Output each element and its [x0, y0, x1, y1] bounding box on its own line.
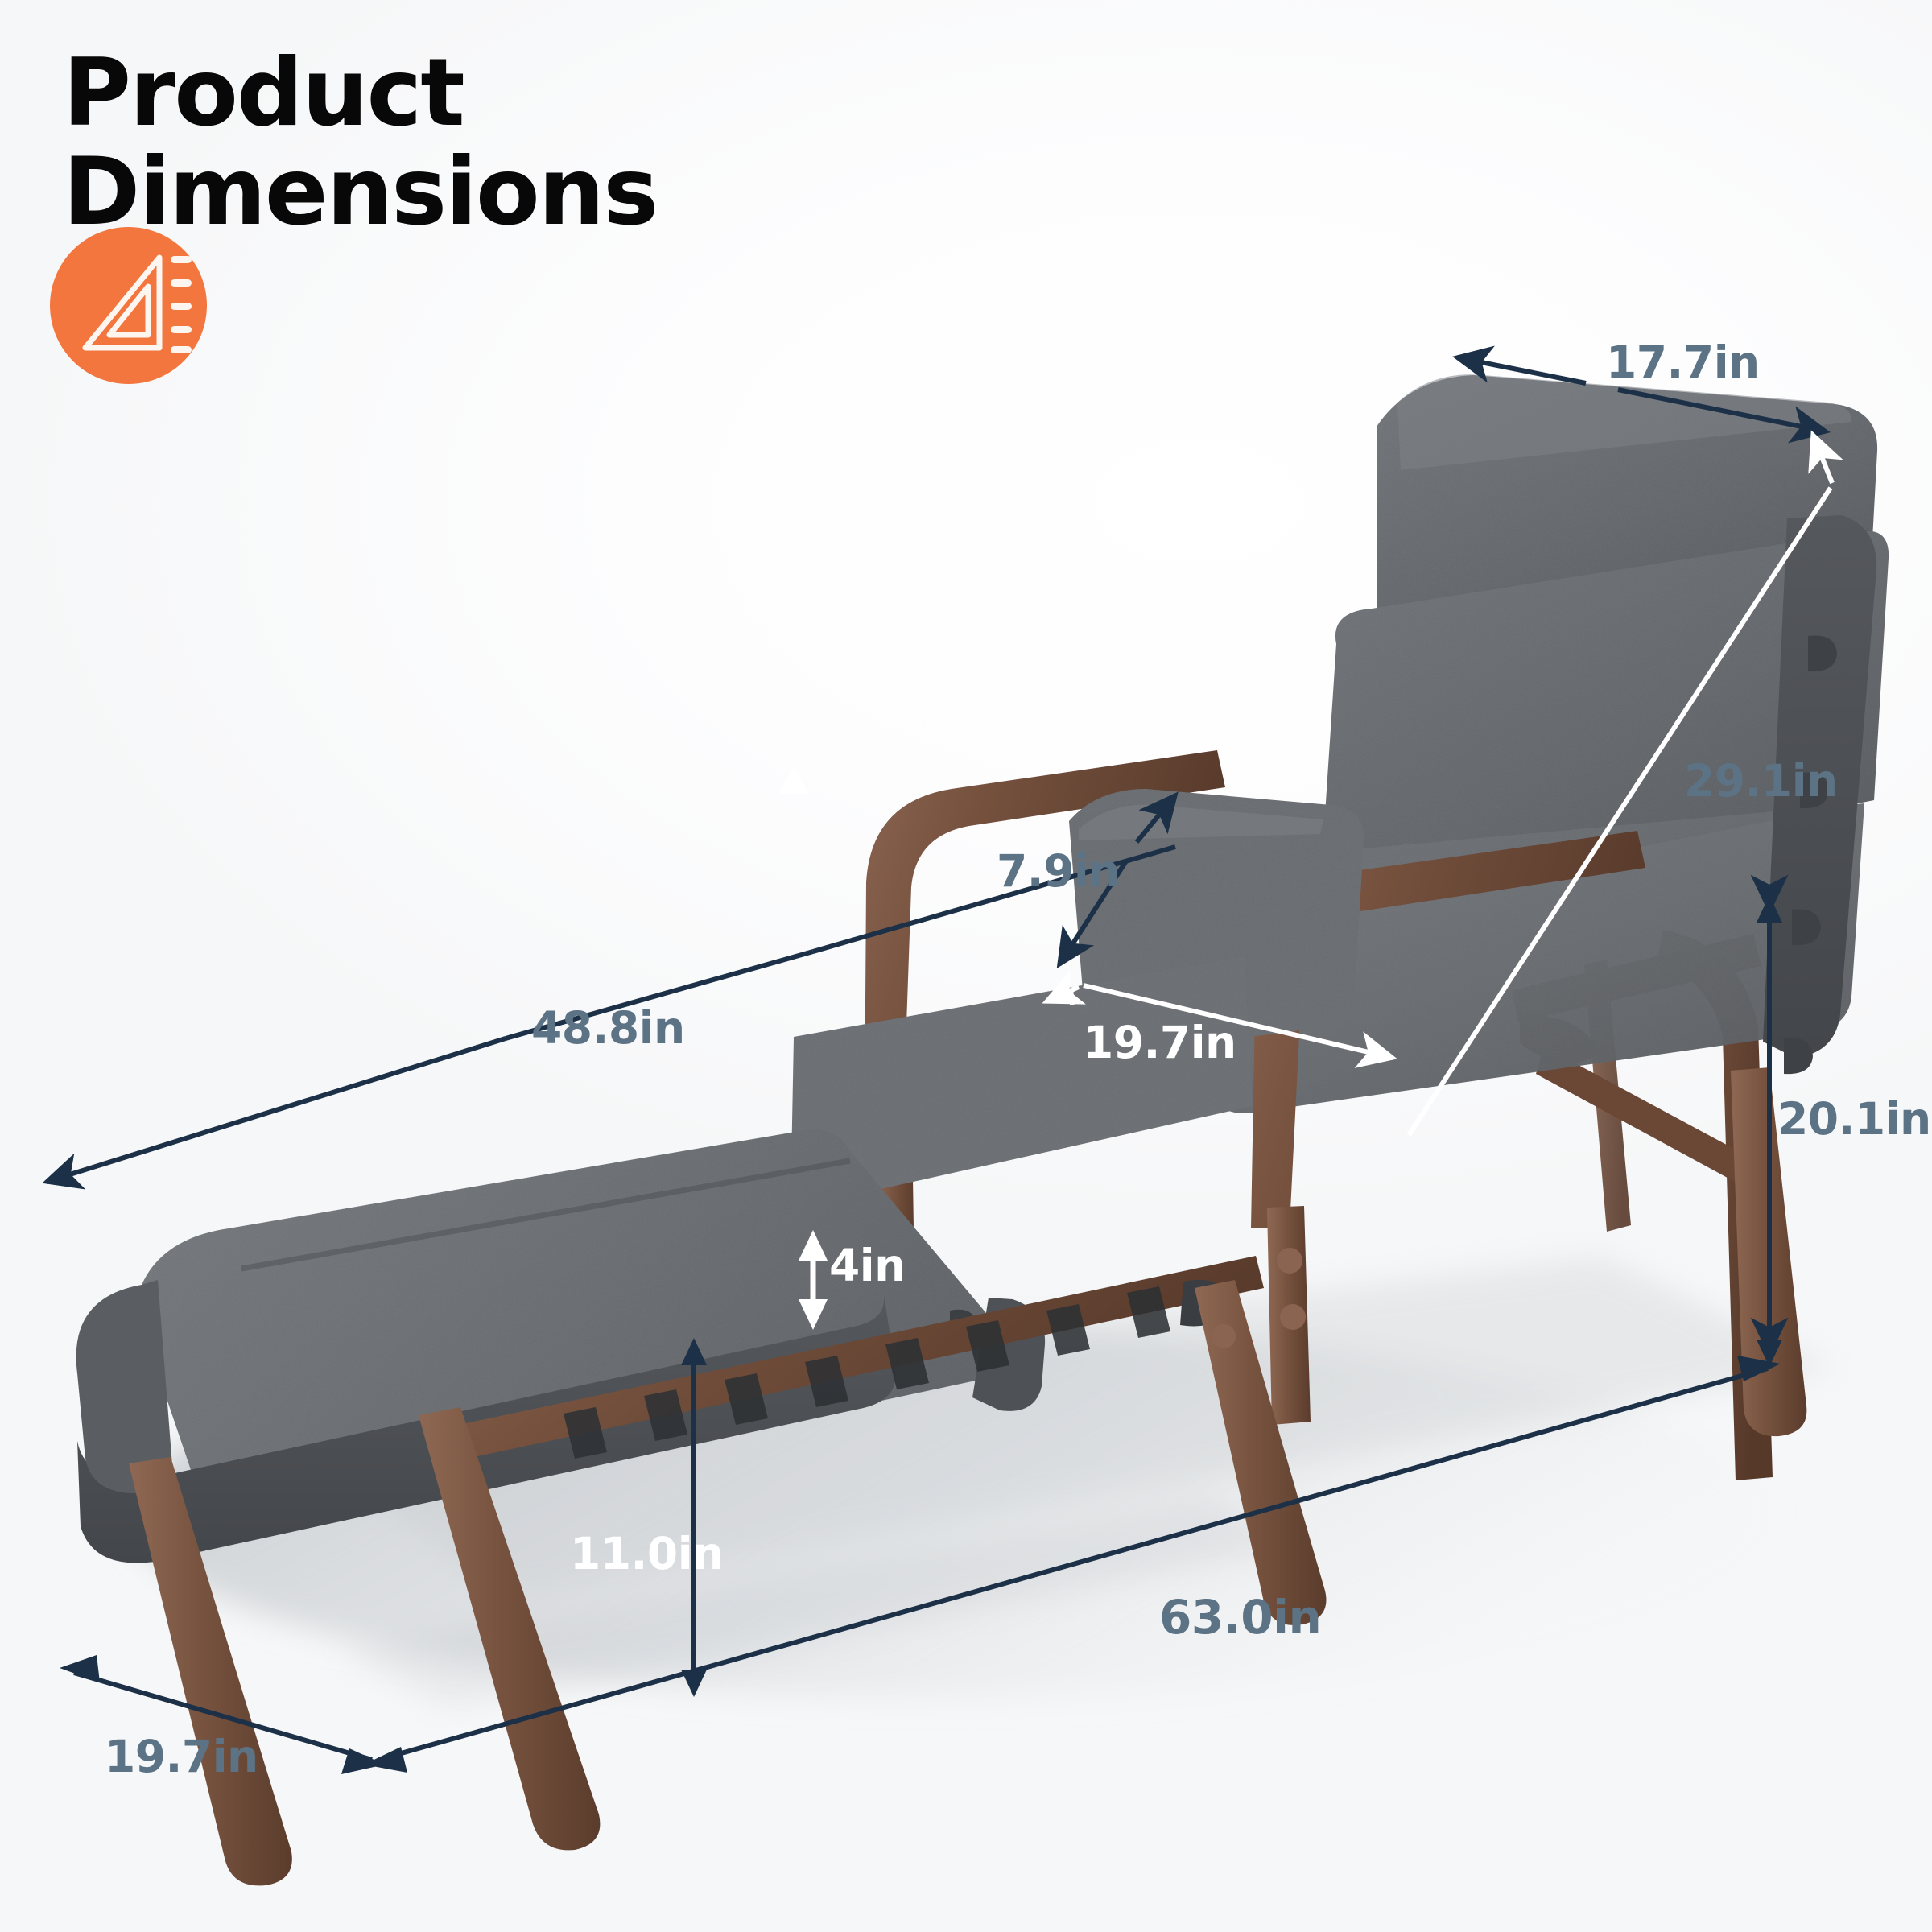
- dimension-label-cushion-thickness: 4in: [829, 1240, 906, 1291]
- dimension-label-overall-length: 63.0in: [1159, 1590, 1321, 1645]
- page-title: Product Dimensions: [63, 44, 948, 242]
- dimension-label-backrest-width: 17.7in: [1606, 336, 1760, 388]
- product-dimensions-infographic: Product Dimensions 17.7in 29.1in 7.9in 4…: [0, 0, 1932, 1932]
- triangle-ruler-badge: [50, 227, 207, 384]
- dimension-label-armrest-height: 7.9in: [997, 845, 1120, 897]
- product-photo: [0, 0, 1932, 1932]
- dimension-label-backrest-height: 29.1in: [1684, 755, 1838, 807]
- dimension-label-seat-width: 19.7in: [1083, 1017, 1236, 1068]
- dimension-label-overall-depth: 19.7in: [105, 1731, 258, 1782]
- dimension-label-seat-back-length: 48.8in: [531, 1002, 685, 1054]
- triangle-ruler-icon: [50, 227, 207, 384]
- watermark-triangle: [778, 766, 809, 794]
- dimension-label-seat-height-rear: 20.1in: [1777, 1093, 1931, 1145]
- dimension-label-seat-height-front: 11.0in: [570, 1528, 724, 1579]
